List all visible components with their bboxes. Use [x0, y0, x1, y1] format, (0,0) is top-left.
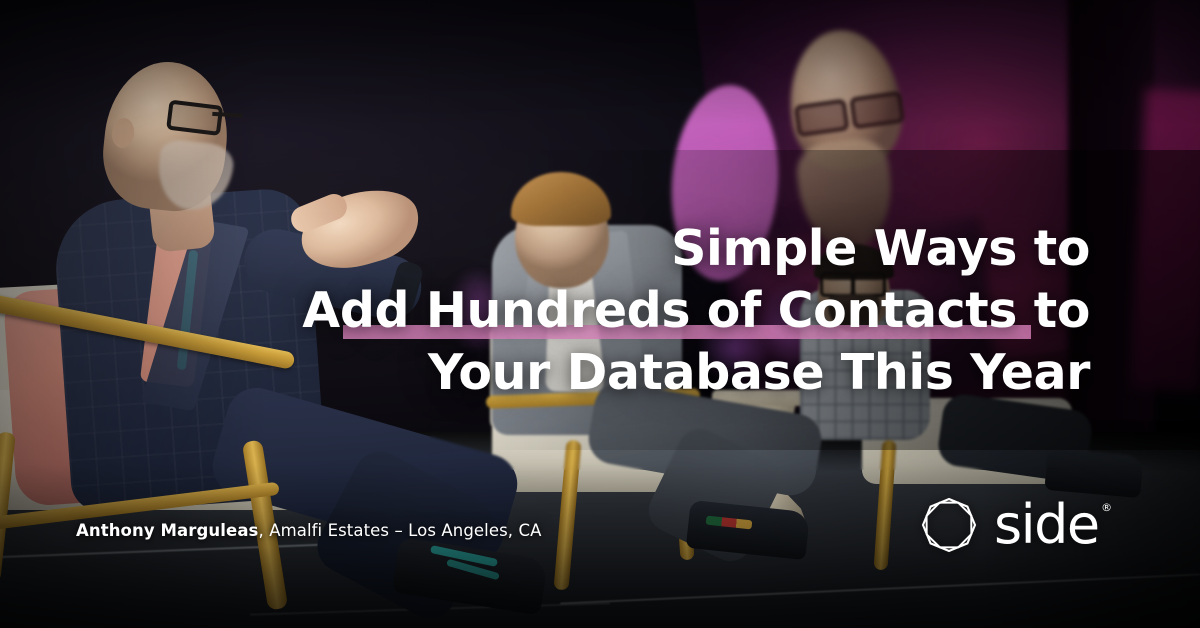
- registered-trademark-icon: ®: [1101, 502, 1111, 513]
- attribution: Anthony Marguleas, Amalfi Estates – Los …: [76, 521, 541, 540]
- side-logo[interactable]: side ®: [918, 494, 1099, 556]
- right-panelist-shoe: [1044, 448, 1143, 498]
- double-octagon-icon: [918, 494, 980, 556]
- side-wordmark: side ®: [994, 498, 1099, 552]
- headline-line-1: Simple Ways to: [290, 218, 1090, 280]
- side-wordmark-text: side: [994, 493, 1099, 556]
- headline-line-2: Add Hundreds of Contacts to: [290, 280, 1090, 342]
- headline: Simple Ways to Add Hundreds of Contacts …: [290, 218, 1090, 404]
- social-card: Simple Ways to Add Hundreds of Contacts …: [0, 0, 1200, 628]
- attribution-separator: ,: [258, 521, 269, 540]
- headline-line-3: Your Database This Year: [290, 342, 1090, 404]
- attribution-affiliation: Amalfi Estates – Los Angeles, CA: [269, 521, 541, 540]
- attribution-name: Anthony Marguleas: [76, 521, 258, 540]
